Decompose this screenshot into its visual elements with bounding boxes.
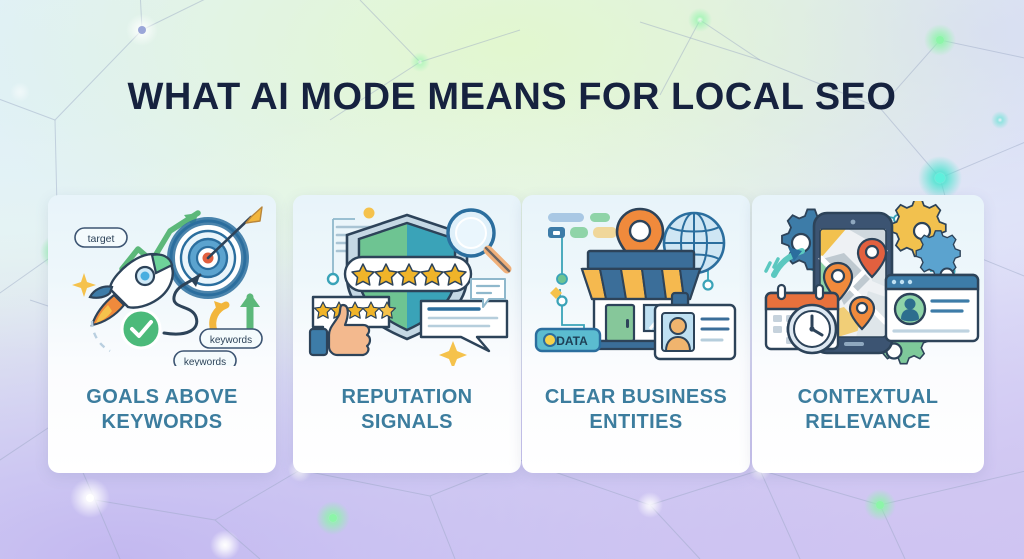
card-goals-above-keywords[interactable]: target — [48, 195, 276, 473]
check-badge-icon — [122, 310, 160, 348]
illustration-shield-stars-reviews — [293, 201, 521, 366]
card-clear-business-entities[interactable]: DATA CLEAR BUSINESS ENTITIES — [522, 195, 750, 473]
illustration-phone-map-gears-calendar — [752, 201, 984, 366]
card-title-line2: SIGNALS — [361, 411, 453, 433]
label-keywords-pill-1: keywords — [200, 329, 262, 348]
clock-icon — [788, 305, 836, 353]
svg-text:DATA: DATA — [556, 334, 588, 348]
svg-text:keywords: keywords — [184, 357, 226, 366]
review-bubble-right — [421, 301, 507, 351]
card-reputation-signals[interactable]: REPUTATION SIGNALS — [293, 195, 521, 473]
svg-text:target: target — [88, 233, 115, 245]
card-title-line1: REPUTATION — [341, 386, 472, 408]
page-title: WHAT AI MODE MEANS FOR LOCAL SEO — [0, 76, 1024, 119]
data-badge: DATA — [536, 329, 600, 351]
card-title-line1: CLEAR BUSINESS — [545, 386, 727, 408]
gear-blue-small-icon — [916, 231, 960, 276]
card-title: GOALS ABOVE KEYWORDS — [56, 385, 268, 435]
card-title-line2: RELEVANCE — [805, 411, 930, 433]
card-title-line1: CONTEXTUAL — [798, 386, 939, 408]
star-rating-top — [345, 257, 471, 291]
card-title-line1: GOALS ABOVE — [86, 386, 237, 408]
card-title-line2: KEYWORDS — [102, 411, 223, 433]
card-contextual-relevance[interactable]: CONTEXTUAL RELEVANCE — [752, 195, 984, 473]
infographic-canvas: WHAT AI MODE MEANS FOR LOCAL SEO target — [0, 0, 1024, 559]
cards-row: target — [0, 195, 1024, 473]
ui-chips — [548, 213, 617, 238]
svg-text:keywords: keywords — [210, 335, 252, 346]
card-title: REPUTATION SIGNALS — [301, 385, 513, 435]
browser-profile-window — [886, 275, 978, 341]
illustration-storefront-pin-globe-id: DATA — [522, 201, 750, 366]
card-title: CONTEXTUAL RELEVANCE — [760, 385, 976, 435]
card-title: CLEAR BUSINESS ENTITIES — [530, 385, 742, 435]
label-target-pill: target — [75, 228, 127, 247]
label-keywords-pill-2: keywords — [174, 351, 236, 366]
illustration-rocket-target-growth: target — [48, 201, 276, 366]
card-title-line2: ENTITIES — [589, 411, 682, 433]
